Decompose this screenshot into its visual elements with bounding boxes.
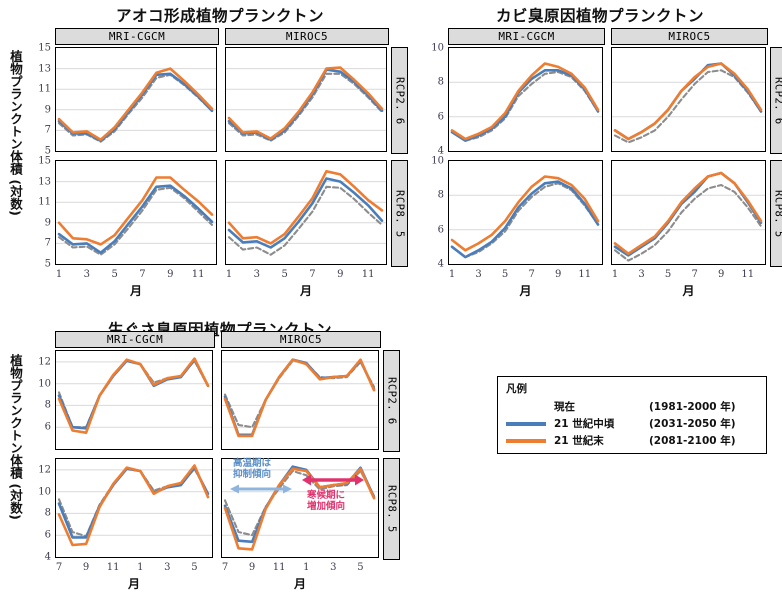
y-axis-tick-label: 9 (25, 217, 51, 228)
y-axis-tick-label: 6 (25, 422, 51, 433)
y-axis-tick-label: 7 (25, 238, 51, 249)
x-axis-tick-label: 7 (139, 269, 145, 280)
x-axis-tick-label: 5 (111, 269, 117, 280)
x-axis-tick-label: 9 (555, 269, 561, 280)
y-axis-tick-label: 11 (25, 197, 51, 208)
legend-years-mid-century: (2031-2050 年) (649, 416, 736, 431)
x-axis-tick-label: 5 (357, 562, 363, 573)
facet-strip-row-rcp85: RCP8. 5 (770, 160, 782, 267)
x-axis-label: 月 (128, 575, 140, 592)
facet-panel-kabishu-1-0 (611, 47, 766, 152)
chart-kabishu: カビ臭原因植物プランクトン MRI-CGCMMIROC5RCP2. 6RCP8.… (400, 0, 782, 312)
y-axis-tick-label: 15 (25, 43, 51, 54)
legend-item-present: 現在 (1981-2000 年) (506, 398, 758, 415)
legend-years-late-century: (2081-2100 年) (649, 433, 736, 448)
facet-panel-aoko-1-0 (225, 47, 387, 152)
facet-strip-col-mri-cgcm: MRI-CGCM (55, 28, 219, 45)
x-axis-tick-label: 5 (665, 269, 671, 280)
facet-strip-row-label: RCP8. 5 (773, 190, 782, 238)
x-axis-tick-label: 1 (137, 562, 143, 573)
legend-swatch-dashed-line (506, 401, 546, 413)
legend-swatch-orange-line (506, 435, 546, 447)
facet-panel-aoko-0-1 (55, 160, 217, 265)
x-axis-tick-label: 1 (449, 269, 455, 280)
annotation-cold-season-increase: 寒候期に 増加傾向 (307, 490, 345, 512)
x-axis-tick-label: 5 (502, 269, 508, 280)
chart-namagusa: 生ぐさ臭原因植物プランクトン MRI-CGCMMIROC5RCP2. 6RCP8… (0, 318, 440, 604)
x-axis-tick-label: 7 (222, 562, 228, 573)
y-axis-tick-label: 12 (25, 356, 51, 367)
y-axis-label: 植物プランクトン体積 (対数) (6, 354, 25, 559)
x-axis-label: 月 (130, 282, 142, 299)
x-axis-tick-label: 3 (475, 269, 481, 280)
legend-swatch-blue-line (506, 418, 546, 430)
x-axis-tick-label: 1 (303, 562, 309, 573)
legend-item-mid-century: 21 世紀中頃 (2031-2050 年) (506, 415, 758, 432)
x-axis-tick-label: 3 (164, 562, 170, 573)
y-axis-tick-label: 6 (25, 530, 51, 541)
legend-years-present: (1981-2000 年) (649, 399, 736, 414)
y-axis-label: 植物プランクトン体積 (対数) (6, 50, 25, 265)
x-axis-tick-label: 11 (578, 269, 591, 280)
y-axis-tick-label: 4 (25, 552, 51, 563)
y-axis-tick-label: 10 (25, 378, 51, 389)
y-axis-tick-label: 13 (25, 176, 51, 187)
facet-strip-col-miroc5: MIROC5 (221, 331, 381, 348)
x-axis-tick-label: 9 (249, 562, 255, 573)
x-axis-tick-label: 3 (330, 562, 336, 573)
x-axis-tick-label: 11 (362, 269, 375, 280)
facet-strip-col-miroc5: MIROC5 (225, 28, 389, 45)
x-axis-tick-label: 7 (309, 269, 315, 280)
y-axis-tick-label: 10 (25, 486, 51, 497)
y-axis-tick-label: 7 (25, 125, 51, 136)
y-axis-tick-label: 8 (25, 400, 51, 411)
y-axis-tick-label: 6 (418, 224, 444, 235)
x-axis-tick-label: 1 (56, 269, 62, 280)
x-axis-label: 月 (519, 282, 531, 299)
facet-panel-namagusa-0-0 (55, 350, 213, 450)
x-axis-tick-label: 3 (638, 269, 644, 280)
x-axis-tick-label: 9 (167, 269, 173, 280)
x-axis-tick-label: 5 (281, 269, 287, 280)
chart-aoko: アオコ形成植物プランクトン MRI-CGCMMIROC5RCP2. 6RCP8.… (0, 0, 400, 312)
x-axis-tick-label: 9 (337, 269, 343, 280)
x-axis-tick-label: 3 (84, 269, 90, 280)
x-axis-tick-label: 1 (612, 269, 618, 280)
x-axis-label: 月 (682, 282, 694, 299)
x-axis-tick-label: 1 (226, 269, 232, 280)
legend-label-present: 現在 (554, 399, 649, 414)
x-axis-tick-label: 3 (254, 269, 260, 280)
x-axis-label: 月 (300, 282, 312, 299)
x-axis-tick-label: 11 (741, 269, 754, 280)
y-axis-tick-label: 9 (25, 104, 51, 115)
facet-strip-row-label: RCP8. 5 (386, 485, 398, 533)
x-axis-tick-label: 7 (691, 269, 697, 280)
x-axis-tick-label: 9 (718, 269, 724, 280)
annotation-arrow-blue (230, 482, 292, 501)
x-axis-tick-label: 11 (273, 562, 286, 573)
facet-panel-kabishu-0-1 (448, 160, 603, 265)
x-axis-tick-label: 5 (191, 562, 197, 573)
y-axis-tick-label: 10 (418, 43, 444, 54)
y-axis-tick-label: 8 (418, 77, 444, 88)
x-axis-tick-label: 9 (83, 562, 89, 573)
facet-strip-row-rcp26: RCP2. 6 (770, 47, 782, 154)
y-axis-tick-label: 10 (418, 156, 444, 167)
chart-title-aoko: アオコ形成植物プランクトン (55, 4, 385, 26)
facet-strip-col-mri-cgcm: MRI-CGCM (448, 28, 605, 45)
y-axis-tick-label: 8 (25, 508, 51, 519)
annotation-warm-season-suppress: 高温期は 抑制傾向 (233, 458, 271, 480)
x-axis-tick-label: 7 (56, 562, 62, 573)
facet-panel-namagusa-1-0 (221, 350, 379, 450)
y-axis-tick-label: 15 (25, 156, 51, 167)
facet-strip-row-label: RCP2. 6 (773, 77, 782, 125)
x-axis-tick-label: 11 (192, 269, 205, 280)
legend-box: 凡例 現在 (1981-2000 年) 21 世紀中頃 (2031-2050 年… (497, 376, 767, 454)
y-axis-tick-label: 11 (25, 84, 51, 95)
y-axis-tick-label: 5 (25, 259, 51, 270)
legend-label-late-century: 21 世紀末 (554, 433, 649, 448)
legend-label-mid-century: 21 世紀中頃 (554, 416, 649, 431)
facet-strip-col-miroc5: MIROC5 (611, 28, 768, 45)
facet-strip-row-rcp26: RCP2. 6 (383, 350, 400, 452)
y-axis-tick-label: 13 (25, 63, 51, 74)
y-axis-tick-label: 6 (418, 111, 444, 122)
facet-panel-aoko-1-1 (225, 160, 387, 265)
facet-panel-kabishu-0-0 (448, 47, 603, 152)
facet-panel-namagusa-0-1 (55, 458, 213, 558)
facet-strip-col-mri-cgcm: MRI-CGCM (55, 331, 215, 348)
legend-title: 凡例 (506, 381, 758, 396)
x-axis-label: 月 (294, 575, 306, 592)
y-axis-tick-label: 8 (418, 190, 444, 201)
y-axis-tick-label: 4 (418, 259, 444, 270)
facet-panel-aoko-0-0 (55, 47, 217, 152)
chart-title-kabishu: カビ臭原因植物プランクトン (440, 4, 760, 26)
x-axis-tick-label: 7 (528, 269, 534, 280)
x-axis-tick-label: 11 (107, 562, 120, 573)
y-axis-tick-label: 12 (25, 464, 51, 475)
facet-panel-kabishu-1-1 (611, 160, 766, 265)
legend-item-late-century: 21 世紀末 (2081-2100 年) (506, 432, 758, 449)
facet-strip-row-rcp85: RCP8. 5 (383, 458, 400, 560)
facet-strip-row-label: RCP2. 6 (386, 377, 398, 425)
